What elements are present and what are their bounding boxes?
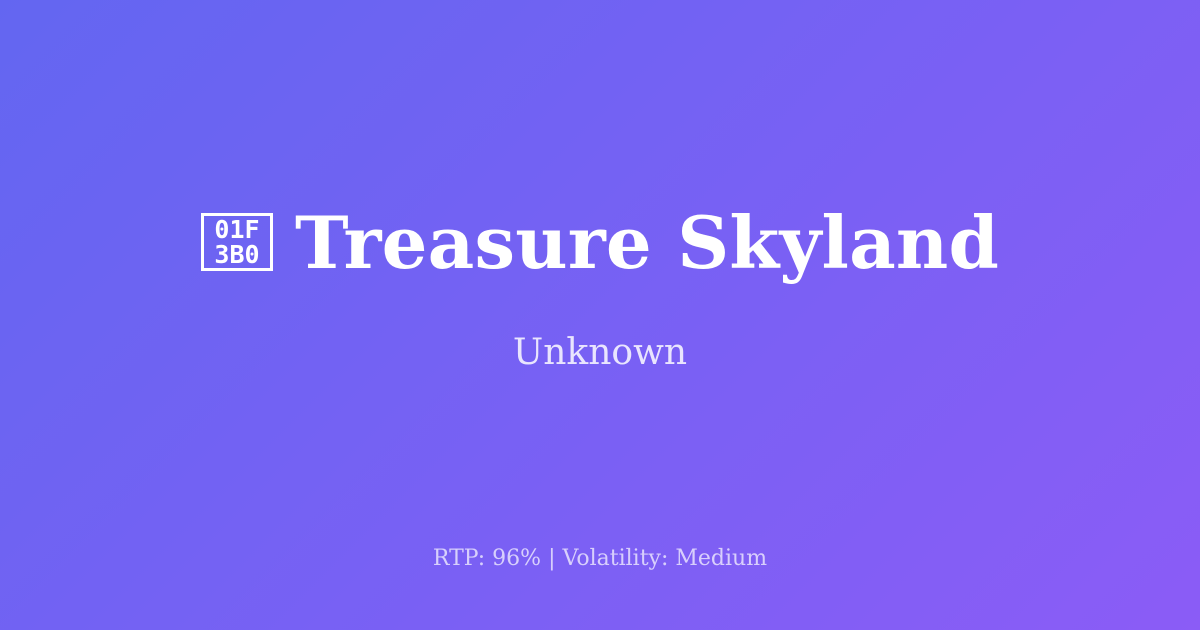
page-title: Treasure Skyland: [295, 204, 999, 282]
page-subtitle: Unknown: [513, 331, 687, 374]
missing-glyph-codepoint-row2: 3B0: [214, 242, 259, 267]
slot-machine-icon: 01F 3B0: [201, 213, 273, 271]
missing-glyph-codepoint-row1: 01F: [214, 217, 259, 242]
title-row: 01F 3B0 Treasure Skyland: [0, 204, 1200, 282]
game-meta-line: RTP: 96% | Volatility: Medium: [0, 545, 1200, 574]
og-card: 01F 3B0 Treasure Skyland Unknown RTP: 96…: [0, 0, 1200, 630]
missing-glyph-box: 01F 3B0: [201, 213, 273, 271]
hero-block: 01F 3B0 Treasure Skyland Unknown: [0, 204, 1200, 375]
meta-footer: RTP: 96% | Volatility: Medium: [0, 545, 1200, 574]
